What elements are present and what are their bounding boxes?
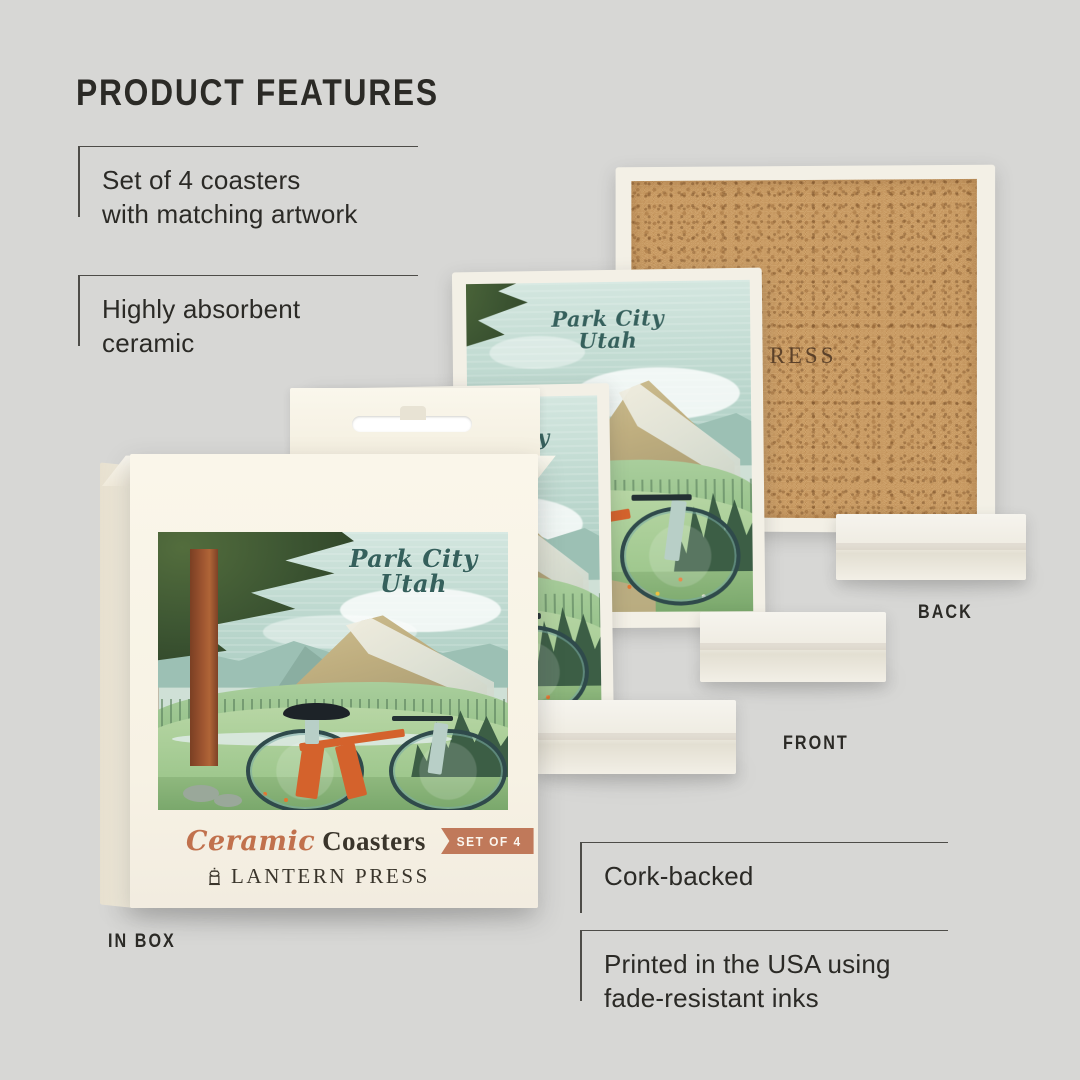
bike-handlebar: [392, 716, 454, 721]
product-box: Park City Utah CeramicCoasters L: [100, 446, 538, 908]
brand-lockup: LANTERN PRESS: [206, 864, 430, 889]
display-stand-near: [536, 700, 736, 774]
feature-text: Cork-backed: [580, 847, 948, 893]
feature-item-printed-usa: Printed in the USA using fade-resistant …: [580, 930, 948, 1016]
feature-item-absorbent: Highly absorbent ceramic: [78, 275, 418, 361]
art-bicycle: [235, 688, 508, 810]
brand-name: LANTERN PRESS: [231, 864, 430, 889]
lantern-icon: [206, 867, 223, 886]
callout-label-front: FRONT: [783, 733, 849, 755]
box-front-panel: Park City Utah CeramicCoasters L: [130, 454, 538, 908]
page-title: PRODUCT FEATURES: [76, 72, 439, 114]
bike-seatpost: [305, 716, 319, 744]
brand-word-ceramic: Ceramic: [186, 826, 315, 857]
feature-item-set-of-4: Set of 4 coasters with matching artwork: [78, 146, 418, 232]
feature-text: Printed in the USA using fade-resistant …: [580, 935, 948, 1016]
artwork-title: Park City Utah: [326, 546, 501, 596]
bike-saddle: [283, 703, 350, 720]
callout-label-back: BACK: [918, 602, 973, 624]
cork-imprint-text: RESS: [770, 343, 837, 369]
display-stand-middle: [700, 612, 886, 682]
hang-tab: [290, 388, 540, 458]
feature-item-cork-backed: Cork-backed: [580, 842, 948, 893]
artwork-title-line2: Utah: [578, 328, 637, 354]
product-feature-graphic: PRODUCT FEATURES Set of 4 coasters with …: [0, 0, 1080, 1080]
box-side-panel: [100, 462, 134, 908]
bike-front-wheel: [389, 729, 507, 810]
display-stand-back: [836, 514, 1026, 580]
brand-headline: CeramicCoasters: [186, 826, 426, 857]
box-window-artwork: Park City Utah: [158, 532, 508, 810]
hang-slot: [352, 416, 472, 432]
artwork-title-line2: Utah: [380, 569, 447, 598]
brand-word-coasters: Coasters: [322, 826, 426, 856]
bike-handlebar: [631, 494, 691, 501]
feature-text: Highly absorbent ceramic: [78, 280, 418, 361]
box-label: CeramicCoasters LANTERN PRESS SET OF 4: [158, 826, 528, 892]
callout-label-in-box: IN BOX: [108, 931, 176, 953]
art-tree-trunk: [190, 549, 218, 766]
artwork-title: Park City Utah: [500, 307, 716, 354]
set-of-4-badge: SET OF 4: [441, 828, 534, 854]
feature-text: Set of 4 coasters with matching artwork: [78, 151, 418, 232]
